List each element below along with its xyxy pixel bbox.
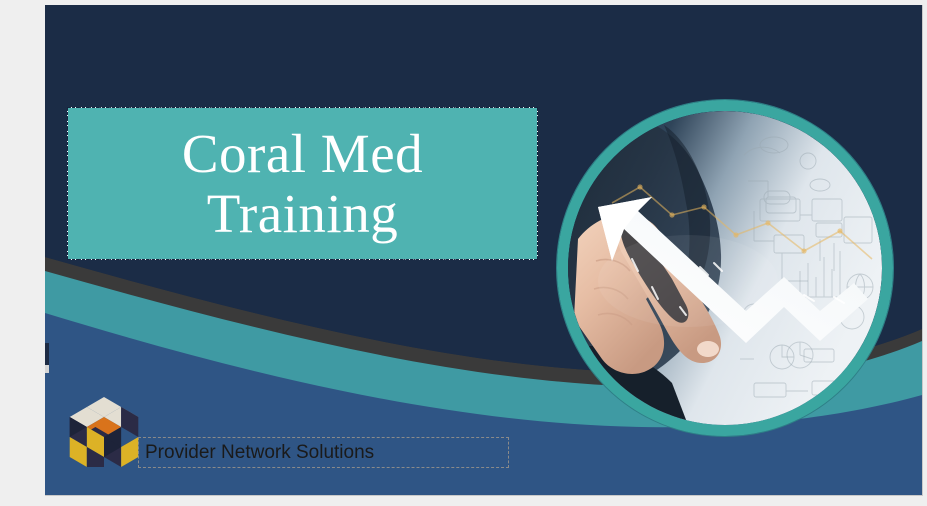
subtitle-placeholder[interactable]: Provider Network Solutions [138,437,509,468]
left-edge-artifact-light [45,365,49,373]
logo-icon [61,397,147,477]
left-edge-artifact [45,343,49,365]
title-text: Coral Med Training [174,124,431,243]
title-placeholder[interactable]: Coral Med Training [68,108,537,259]
isometric-cubes-logo [61,397,147,477]
subtitle-text: Provider Network Solutions [139,442,374,464]
circular-picture-placeholder[interactable] [557,100,893,436]
slide-surface[interactable]: Coral Med Training [45,5,923,496]
picture-content [568,111,882,425]
slide-editor-canvas: Coral Med Training [0,0,927,506]
business-growth-arrow-photo [568,111,882,425]
